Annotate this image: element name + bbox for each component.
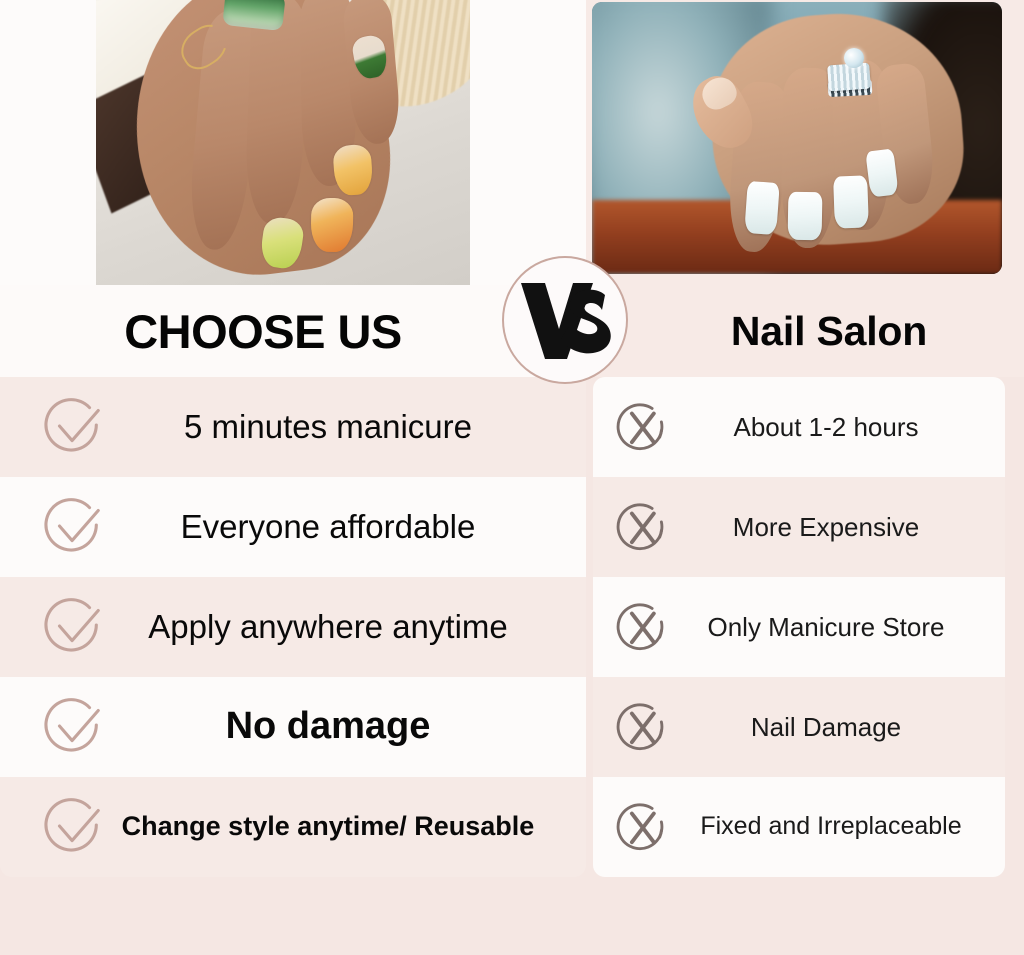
list-item: Only Manicure Store [593,577,1005,677]
check-circle-icon [44,496,106,558]
check-circle-icon [44,396,106,458]
check-circle-icon [44,796,106,858]
list-item-label: Apply anywhere anytime [106,609,576,645]
choose-us-column: 5 minutes manicure Everyone affordable A… [0,377,586,877]
nail-salon-title: Nail Salon [731,311,927,352]
x-circle-icon [615,700,669,754]
list-item: About 1-2 hours [593,377,1005,477]
list-item-label: Only Manicure Store [669,613,997,642]
nail-salon-header: Nail Salon [586,285,1024,377]
list-item: Everyone affordable [0,477,586,577]
x-circle-icon [615,400,669,454]
vs-badge [502,256,628,384]
list-item: More Expensive [593,477,1005,577]
list-item-label: Fixed and Irreplaceable [669,813,997,841]
list-item: Fixed and Irreplaceable [593,777,1005,877]
list-item-label: Nail Damage [669,713,997,742]
photo-band [0,0,1024,288]
comparison-rows: 5 minutes manicure Everyone affordable A… [0,377,1024,887]
list-item: Change style anytime/ Reusable [0,777,586,877]
press-on-nails-fruit-design-photo [96,0,470,285]
nail-salon-column: About 1-2 hours More Expensive [593,377,1005,877]
list-item: No damage [0,677,586,777]
check-circle-icon [44,696,106,758]
list-item-label: About 1-2 hours [669,413,997,442]
list-item-label: No damage [106,706,576,748]
list-item-label: Everyone affordable [106,509,576,545]
vs-icon [517,277,613,363]
choose-us-title: CHOOSE US [124,308,402,355]
list-item: Nail Damage [593,677,1005,777]
comparison-infographic: CHOOSE US Nail Salon 5 minutes manicure [0,0,1024,955]
x-circle-icon [615,600,669,654]
list-item-label: 5 minutes manicure [106,409,576,445]
list-item-label: More Expensive [669,513,997,542]
nail-salon-white-manicure-photo [592,2,1002,274]
list-item-label: Change style anytime/ Reusable [106,812,576,842]
choose-us-header: CHOOSE US [0,285,586,377]
x-circle-icon [615,800,669,854]
x-circle-icon [615,500,669,554]
list-item: Apply anywhere anytime [0,577,586,677]
list-item: 5 minutes manicure [0,377,586,477]
check-circle-icon [44,596,106,658]
